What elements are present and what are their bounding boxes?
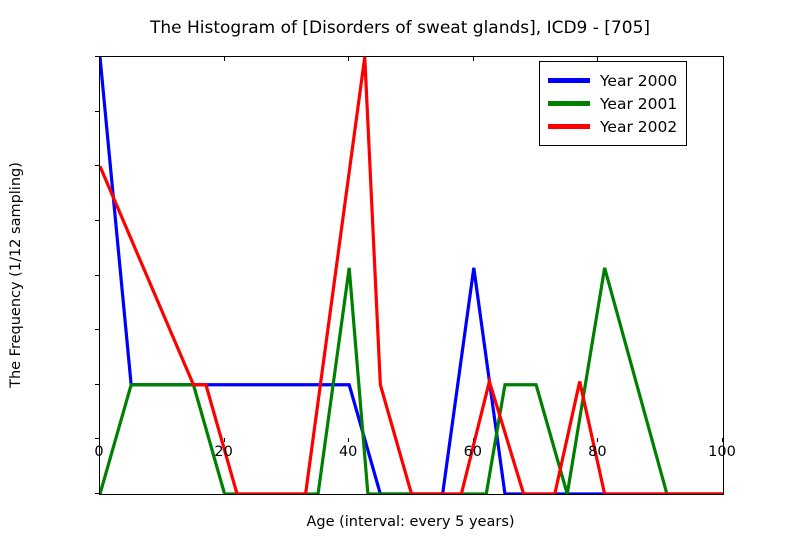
y-tick-mark <box>95 275 99 276</box>
legend-color-swatch <box>548 124 590 129</box>
x-tick-mark <box>722 438 723 442</box>
legend-label: Year 2002 <box>600 118 677 136</box>
x-tick-mark <box>473 438 474 442</box>
x-tick-label: 0 <box>64 444 134 460</box>
y-tick-mark <box>95 329 99 330</box>
chart-figure: The Histogram of [Disorders of sweat gla… <box>0 0 800 550</box>
x-tick-label: 20 <box>189 444 259 460</box>
y-tick-mark <box>95 220 99 221</box>
y-tick-mark <box>95 111 99 112</box>
y-tick-mark <box>95 493 99 494</box>
x-tick-label: 60 <box>438 444 508 460</box>
legend-label: Year 2001 <box>600 95 677 113</box>
y-tick-mark <box>95 56 99 57</box>
x-tick-mark-top <box>473 57 474 61</box>
x-tick-mark-top <box>348 57 349 61</box>
x-tick-mark <box>348 438 349 442</box>
x-tick-label: 80 <box>562 444 632 460</box>
x-tick-mark-top <box>224 57 225 61</box>
y-axis-label: The Frequency (1/12 sampling) <box>8 162 24 388</box>
y-tick-mark <box>95 165 99 166</box>
x-tick-label: 100 <box>687 444 757 460</box>
legend-color-swatch <box>548 101 590 106</box>
x-tick-mark <box>597 438 598 442</box>
y-tick-mark <box>95 384 99 385</box>
x-axis-label: Age (interval: every 5 years) <box>99 514 722 530</box>
legend-item[interactable]: Year 2001 <box>548 92 677 115</box>
x-tick-mark <box>224 438 225 442</box>
legend-label: Year 2000 <box>600 72 677 90</box>
legend-color-swatch <box>548 78 590 83</box>
legend-item[interactable]: Year 2000 <box>548 69 677 92</box>
chart-legend: Year 2000Year 2001Year 2002 <box>539 61 687 146</box>
chart-title: The Histogram of [Disorders of sweat gla… <box>0 18 800 38</box>
x-tick-label: 40 <box>313 444 383 460</box>
x-tick-mark <box>99 438 100 442</box>
legend-item[interactable]: Year 2002 <box>548 115 677 138</box>
